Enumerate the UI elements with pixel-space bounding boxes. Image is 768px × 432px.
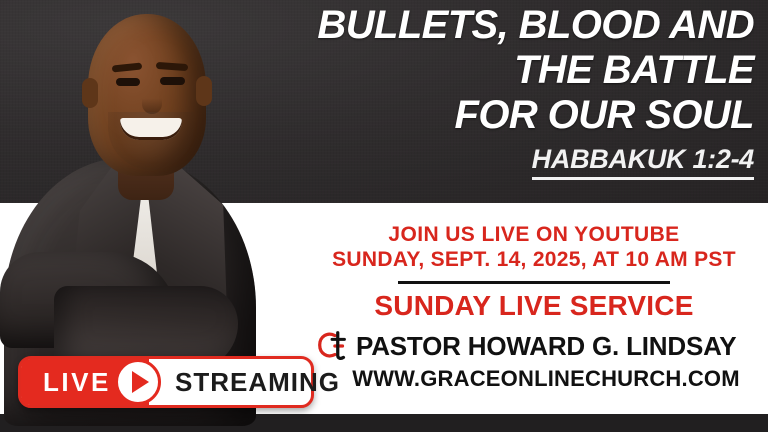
presenter-row: PASTOR HOWARD G. LINDSAY — [300, 327, 768, 365]
church-website: WWW.GRACEONLINECHURCH.COM — [300, 366, 768, 392]
scripture-reference: HABBAKUK 1:2-4 — [532, 142, 754, 180]
portrait-ear-right — [196, 76, 212, 106]
grace-church-cross-logo-icon — [314, 327, 352, 365]
presenter-name: PASTOR HOWARD G. LINDSAY — [356, 332, 736, 361]
portrait-eye-left — [116, 78, 140, 86]
portrait-ear-left — [82, 78, 98, 108]
portrait-smile — [120, 118, 182, 140]
portrait-nose — [142, 88, 162, 114]
service-name-line: SUNDAY LIVE SERVICE — [300, 289, 768, 322]
badge-streaming-label: STREAMING — [175, 367, 340, 398]
service-date-line: SUNDAY, SEPT. 14, 2025, AT 10 AM PST — [300, 247, 768, 273]
live-streaming-badge[interactable]: LIVE STREAMING — [18, 356, 314, 408]
play-triangle-icon[interactable] — [115, 359, 161, 405]
promo-graphic: BULLETS, BLOOD AND THE BATTLE FOR OUR SO… — [0, 0, 768, 432]
play-triangle-shape — [132, 371, 149, 393]
announcement-panel: JOIN US LIVE ON YOUTUBE SUNDAY, SEPT. 14… — [300, 206, 768, 416]
join-live-line: JOIN US LIVE ON YOUTUBE — [300, 222, 768, 247]
portrait-eye-right — [160, 77, 185, 85]
badge-live-label: LIVE — [43, 367, 111, 398]
sermon-title-line-3: FOR OUR SOUL — [214, 93, 754, 138]
sermon-title-line-2: THE BATTLE — [214, 48, 754, 93]
badge-streaming-section: STREAMING — [149, 367, 350, 398]
sermon-title-line-1: BULLETS, BLOOD AND — [214, 3, 754, 48]
sermon-title-block: BULLETS, BLOOD AND THE BATTLE FOR OUR SO… — [214, 3, 754, 180]
divider-rule — [398, 281, 670, 284]
